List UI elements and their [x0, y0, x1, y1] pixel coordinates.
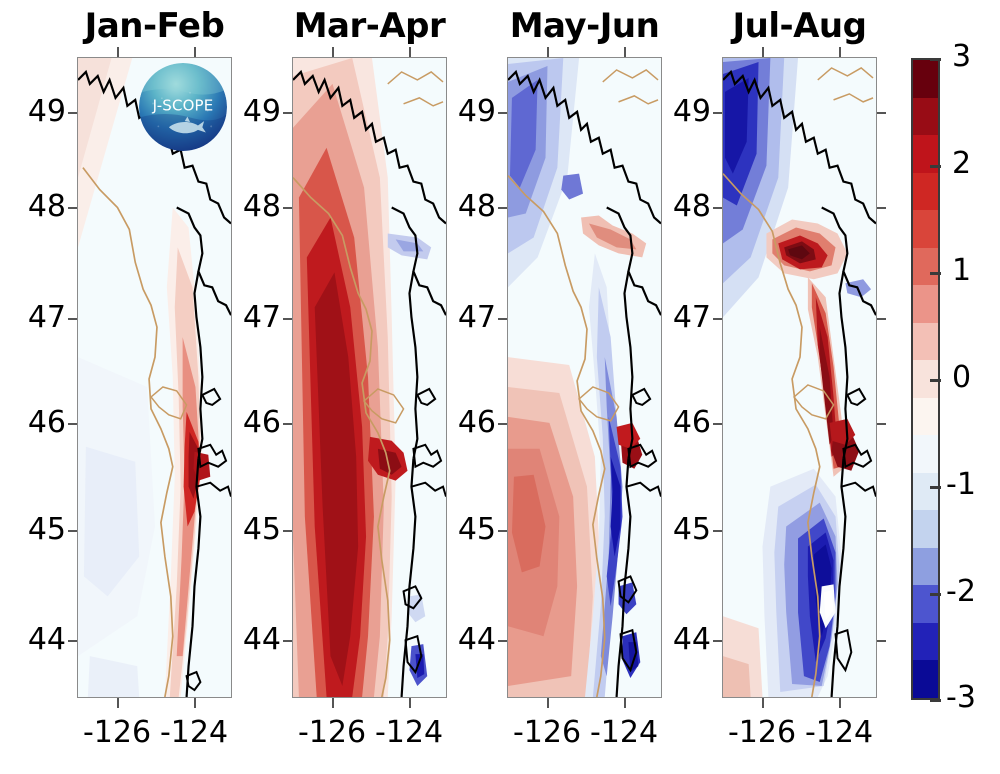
colorbar-band-10: [913, 435, 938, 473]
ytick-44-p3: [498, 640, 507, 642]
xtick-124-top-p1: [194, 47, 196, 57]
ytick-49-p4-right: [877, 112, 886, 114]
ylabel-46-p1: 46: [14, 408, 66, 438]
ylabel-47-p4: 47: [659, 303, 711, 333]
ylabel-48-p2: 48: [229, 192, 281, 222]
cbtick-3: [930, 58, 941, 61]
cblabel-3: 3: [952, 42, 971, 72]
ytick-47-p2: [283, 318, 292, 320]
colorbar-band-11: [913, 473, 938, 511]
xtick-126-p1: [117, 698, 119, 708]
colorbar-band-3: [913, 173, 938, 211]
ytick-45-p1: [68, 530, 77, 532]
ytick-45-p4: [713, 530, 722, 532]
xlabel-124-p1: -124: [139, 718, 249, 748]
cbtick-m1: [930, 486, 941, 489]
colorbar-band-6: [913, 285, 938, 323]
ytick-44-p1: [68, 640, 77, 642]
ylabel-48-p1: 48: [14, 192, 66, 222]
panel-title-mar-apr: Mar-Apr: [292, 9, 447, 43]
xtick-124-p2: [409, 698, 411, 708]
ylabel-46-p4: 46: [659, 408, 711, 438]
colorbar-band-7: [913, 323, 938, 361]
ytick-49-p1: [68, 112, 77, 114]
cblabel-m3: -3: [946, 683, 976, 713]
ylabel-47-p2: 47: [229, 303, 281, 333]
colorbar-band-5: [913, 248, 938, 286]
ylabel-44-p4: 44: [659, 625, 711, 655]
ytick-49-p2: [283, 112, 292, 114]
xlabel-124-p3: -124: [569, 718, 679, 748]
cblabel-m1: -1: [946, 470, 976, 500]
ytick-47-p4-right: [877, 318, 886, 320]
cblabel-1: 1: [952, 256, 971, 286]
cbtick-0: [930, 379, 941, 382]
ytick-45-p2: [283, 530, 292, 532]
map-jan-feb: [78, 58, 231, 697]
ytick-48-p2: [283, 207, 292, 209]
cbtick-m3: [930, 699, 941, 702]
colorbar-band-15: [913, 623, 938, 661]
ylabel-44-p2: 44: [229, 625, 281, 655]
ylabel-48-p3: 48: [444, 192, 496, 222]
ytick-46-p2: [283, 423, 292, 425]
colorbar-band-16: [913, 660, 938, 698]
ytick-46-p4-right: [877, 423, 886, 425]
map-frame-mar-apr: [292, 57, 447, 698]
ytick-45-p4-right: [877, 530, 886, 532]
panel-jan-feb: Jan-Feb: [77, 57, 232, 698]
ylabel-46-p2: 46: [229, 408, 281, 438]
ytick-48-p3: [498, 207, 507, 209]
ylabel-49-p1: 49: [14, 97, 66, 127]
colorbar-band-14: [913, 585, 938, 623]
xlabel-124-p4: -124: [784, 718, 894, 748]
ytick-47-p4: [713, 318, 722, 320]
cbtick-m2: [930, 593, 941, 596]
cblabel-0: 0: [952, 363, 971, 393]
cbtick-1: [930, 272, 941, 275]
ytick-45-p3: [498, 530, 507, 532]
panel-mar-apr: Mar-Apr: [292, 57, 447, 698]
xtick-124-p4: [839, 698, 841, 708]
svg-text:J-SCOPE: J-SCOPE: [152, 97, 214, 115]
ylabel-45-p2: 45: [229, 515, 281, 545]
jscope-logo: J-SCOPE: [139, 63, 227, 151]
xtick-124-top-p3: [624, 47, 626, 57]
xtick-124-top-p4: [839, 47, 841, 57]
xtick-124-p1: [194, 698, 196, 708]
colorbar-band-1: [913, 98, 938, 136]
colorbar-band-0: [913, 60, 938, 98]
ylabel-49-p3: 49: [444, 97, 496, 127]
ytick-49-p4: [713, 112, 722, 114]
ylabel-49-p4: 49: [659, 97, 711, 127]
xtick-126-top-p4: [762, 47, 764, 57]
map-jul-aug: [723, 58, 876, 697]
ytick-49-p3: [498, 112, 507, 114]
cblabel-m2: -2: [946, 577, 976, 607]
xtick-126-p3: [547, 698, 549, 708]
colorbar-band-4: [913, 210, 938, 248]
ylabel-44-p1: 44: [14, 625, 66, 655]
panel-may-jun: May-Jun: [507, 57, 662, 698]
ytick-46-p3: [498, 423, 507, 425]
panel-title-jul-aug: Jul-Aug: [722, 9, 877, 43]
jscope-logo-graphic: J-SCOPE: [139, 63, 227, 151]
ylabel-47-p1: 47: [14, 303, 66, 333]
map-frame-jan-feb: J-SCOPE: [77, 57, 232, 698]
map-frame-may-jun: [507, 57, 662, 698]
panel-title-may-jun: May-Jun: [507, 9, 662, 43]
xtick-126-top-p1: [117, 47, 119, 57]
ylabel-44-p3: 44: [444, 625, 496, 655]
figure-canvas: Jan-Feb: [0, 0, 1000, 774]
ytick-46-p4: [713, 423, 722, 425]
xtick-124-p3: [624, 698, 626, 708]
map-mar-apr: [293, 58, 446, 697]
xtick-124-top-p2: [409, 47, 411, 57]
ylabel-47-p3: 47: [444, 303, 496, 333]
xtick-126-p4: [762, 698, 764, 708]
ytick-46-p1: [68, 423, 77, 425]
panel-jul-aug: Jul-Aug: [722, 57, 877, 698]
xtick-126-top-p2: [332, 47, 334, 57]
panel-title-jan-feb: Jan-Feb: [77, 9, 232, 43]
ylabel-45-p4: 45: [659, 515, 711, 545]
ylabel-46-p3: 46: [444, 408, 496, 438]
xtick-126-p2: [332, 698, 334, 708]
ylabel-49-p2: 49: [229, 97, 281, 127]
xtick-126-top-p3: [547, 47, 549, 57]
xlabel-124-p2: -124: [354, 718, 464, 748]
colorbar-band-9: [913, 398, 938, 436]
ylabel-45-p1: 45: [14, 515, 66, 545]
colorbar-band-12: [913, 510, 938, 548]
cblabel-2: 2: [952, 149, 971, 179]
colorbar-band-13: [913, 548, 938, 586]
ytick-48-p4-right: [877, 207, 886, 209]
map-frame-jul-aug: [722, 57, 877, 698]
ytick-44-p4-right: [877, 640, 886, 642]
cbtick-2: [930, 165, 941, 168]
ytick-47-p3: [498, 318, 507, 320]
ytick-48-p1: [68, 207, 77, 209]
map-may-jun: [508, 58, 661, 697]
ytick-48-p4: [713, 207, 722, 209]
ylabel-48-p4: 48: [659, 192, 711, 222]
ylabel-45-p3: 45: [444, 515, 496, 545]
ytick-47-p1: [68, 318, 77, 320]
ytick-44-p4: [713, 640, 722, 642]
ytick-44-p2: [283, 640, 292, 642]
